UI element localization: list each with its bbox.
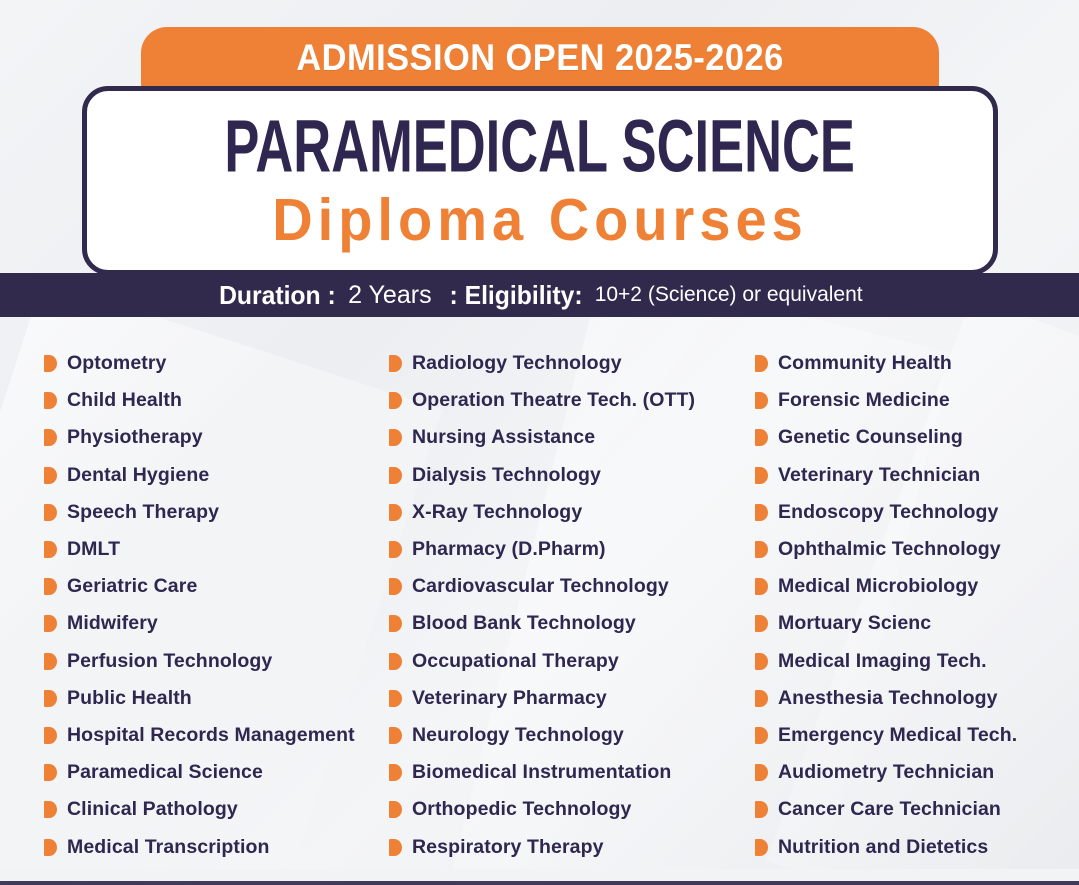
arrow-bullet-icon: [389, 615, 402, 632]
arrow-bullet-icon: [389, 504, 402, 521]
arrow-bullet-icon: [389, 801, 402, 818]
list-item[interactable]: Emergency Medical Tech.: [755, 717, 1079, 754]
course-label: Neurology Technology: [412, 724, 624, 747]
course-label: Nursing Assistance: [412, 426, 595, 449]
list-item[interactable]: Perfusion Technology: [44, 643, 375, 680]
arrow-bullet-icon: [755, 653, 768, 670]
course-label: Speech Therapy: [67, 501, 219, 524]
course-label: Perfusion Technology: [67, 650, 272, 673]
list-item[interactable]: Biomedical Instrumentation: [389, 754, 745, 791]
arrow-bullet-icon: [755, 839, 768, 856]
arrow-bullet-icon: [755, 690, 768, 707]
arrow-bullet-icon: [44, 392, 57, 409]
arrow-bullet-icon: [44, 578, 57, 595]
list-item[interactable]: Geriatric Care: [44, 568, 375, 605]
list-item[interactable]: Hospital Records Management: [44, 717, 375, 754]
list-item[interactable]: Audiometry Technician: [755, 754, 1079, 791]
list-item[interactable]: Public Health: [44, 680, 375, 717]
course-column-1: Optometry Child Health Physiotherapy Den…: [0, 345, 375, 880]
list-item[interactable]: Community Health: [755, 345, 1079, 382]
list-item[interactable]: Anesthesia Technology: [755, 680, 1079, 717]
list-item[interactable]: Physiotherapy: [44, 419, 375, 456]
arrow-bullet-icon: [44, 801, 57, 818]
course-label: Ophthalmic Technology: [778, 538, 1001, 561]
list-item[interactable]: Medical Transcription: [44, 828, 375, 865]
course-label: Physiotherapy: [67, 426, 203, 449]
list-item[interactable]: Paramedical Science: [44, 754, 375, 791]
list-item[interactable]: Dialysis Technology: [389, 457, 745, 494]
list-item[interactable]: Operation Theatre Tech. (OTT): [389, 382, 745, 419]
course-label: Medical Microbiology: [778, 575, 978, 598]
list-item[interactable]: Nutrition and Dietetics: [755, 828, 1079, 865]
course-label: Community Health: [778, 352, 952, 375]
course-label: Paramedical Science: [67, 761, 263, 784]
arrow-bullet-icon: [44, 504, 57, 521]
course-label: Anesthesia Technology: [778, 687, 998, 710]
course-label: Endoscopy Technology: [778, 501, 999, 524]
course-label: Occupational Therapy: [412, 650, 619, 673]
course-label: Forensic Medicine: [778, 389, 950, 412]
duration-label: Duration :: [219, 280, 336, 311]
list-item[interactable]: Child Health: [44, 382, 375, 419]
course-label: Cardiovascular Technology: [412, 575, 669, 598]
course-label: Genetic Counseling: [778, 426, 963, 449]
list-item[interactable]: Veterinary Technician: [755, 457, 1079, 494]
list-item[interactable]: Ophthalmic Technology: [755, 531, 1079, 568]
course-label: Midwifery: [67, 612, 158, 635]
arrow-bullet-icon: [389, 839, 402, 856]
arrow-bullet-icon: [44, 429, 57, 446]
arrow-bullet-icon: [755, 801, 768, 818]
arrow-bullet-icon: [755, 504, 768, 521]
course-label: Medical Transcription: [67, 836, 270, 859]
course-list: Optometry Child Health Physiotherapy Den…: [0, 317, 1079, 880]
list-item[interactable]: Occupational Therapy: [389, 643, 745, 680]
arrow-bullet-icon: [755, 392, 768, 409]
arrow-bullet-icon: [44, 690, 57, 707]
arrow-bullet-icon: [755, 467, 768, 484]
arrow-bullet-icon: [389, 578, 402, 595]
list-item[interactable]: Veterinary Pharmacy: [389, 680, 745, 717]
arrow-bullet-icon: [44, 467, 57, 484]
list-item[interactable]: Orthopedic Technology: [389, 791, 745, 828]
list-item[interactable]: Clinical Pathology: [44, 791, 375, 828]
arrow-bullet-icon: [755, 727, 768, 744]
list-item[interactable]: Neurology Technology: [389, 717, 745, 754]
list-item[interactable]: Midwifery: [44, 605, 375, 642]
list-item[interactable]: Genetic Counseling: [755, 419, 1079, 456]
course-label: Audiometry Technician: [778, 761, 994, 784]
list-item[interactable]: Cardiovascular Technology: [389, 568, 745, 605]
course-column-3: Community Health Forensic Medicine Genet…: [745, 345, 1079, 880]
course-label: Biomedical Instrumentation: [412, 761, 671, 784]
course-label: Medical Imaging Tech.: [778, 650, 987, 673]
list-item[interactable]: Mortuary Scienc: [755, 605, 1079, 642]
arrow-bullet-icon: [44, 653, 57, 670]
arrow-bullet-icon: [44, 764, 57, 781]
arrow-bullet-icon: [755, 578, 768, 595]
arrow-bullet-icon: [755, 764, 768, 781]
course-label: Child Health: [67, 389, 182, 412]
course-label: Geriatric Care: [67, 575, 197, 598]
list-item[interactable]: Pharmacy (D.Pharm): [389, 531, 745, 568]
course-label: Orthopedic Technology: [412, 798, 632, 821]
arrow-bullet-icon: [44, 355, 57, 372]
admission-open-text: ADMISSION OPEN 2025-2026: [296, 37, 783, 79]
course-label: Respiratory Therapy: [412, 836, 604, 859]
list-item[interactable]: Radiology Technology: [389, 345, 745, 382]
course-label: Dialysis Technology: [412, 464, 601, 487]
bottom-divider: [0, 881, 1079, 885]
list-item[interactable]: Endoscopy Technology: [755, 494, 1079, 531]
course-label: Mortuary Scienc: [778, 612, 931, 635]
page-title: PARAMEDICAL SCIENCE: [225, 111, 856, 182]
list-item[interactable]: Respiratory Therapy: [389, 828, 745, 865]
course-label: Dental Hygiene: [67, 464, 209, 487]
list-item[interactable]: Speech Therapy: [44, 494, 375, 531]
list-item[interactable]: DMLT: [44, 531, 375, 568]
course-label: X-Ray Technology: [412, 501, 582, 524]
course-label: Nutrition and Dietetics: [778, 836, 988, 859]
list-item[interactable]: Dental Hygiene: [44, 457, 375, 494]
course-column-2: Radiology Technology Operation Theatre T…: [375, 345, 745, 880]
arrow-bullet-icon: [389, 690, 402, 707]
arrow-bullet-icon: [389, 541, 402, 558]
course-label: Veterinary Pharmacy: [412, 687, 607, 710]
course-label: Pharmacy (D.Pharm): [412, 538, 606, 561]
arrow-bullet-icon: [44, 541, 57, 558]
eligibility-value: 10+2 (Science) or equivalent: [595, 283, 863, 307]
course-label: Cancer Care Technician: [778, 798, 1001, 821]
list-item[interactable]: Medical Imaging Tech.: [755, 643, 1079, 680]
admission-poster: ADMISSION OPEN 2025-2026 PARAMEDICAL SCI…: [0, 0, 1079, 885]
arrow-bullet-icon: [755, 429, 768, 446]
arrow-bullet-icon: [389, 429, 402, 446]
arrow-bullet-icon: [44, 839, 57, 856]
course-label: Operation Theatre Tech. (OTT): [412, 389, 695, 412]
arrow-bullet-icon: [389, 355, 402, 372]
arrow-bullet-icon: [389, 727, 402, 744]
arrow-bullet-icon: [44, 615, 57, 632]
course-label: Veterinary Technician: [778, 464, 980, 487]
course-label: Blood Bank Technology: [412, 612, 636, 635]
arrow-bullet-icon: [755, 355, 768, 372]
duration-eligibility-bar: Duration : 2 Years : Eligibility: 10+2 (…: [0, 273, 1079, 317]
arrow-bullet-icon: [389, 467, 402, 484]
list-item[interactable]: X-Ray Technology: [389, 494, 745, 531]
list-item[interactable]: Forensic Medicine: [755, 382, 1079, 419]
course-label: Public Health: [67, 687, 192, 710]
page-subtitle: Diploma Courses: [272, 190, 808, 249]
course-label: Clinical Pathology: [67, 798, 238, 821]
bottom-strip: [0, 869, 1079, 881]
course-label: Optometry: [67, 352, 167, 375]
arrow-bullet-icon: [389, 653, 402, 670]
title-card: PARAMEDICAL SCIENCE Diploma Courses: [82, 86, 998, 275]
list-item[interactable]: Nursing Assistance: [389, 419, 745, 456]
duration-value: 2 Years: [348, 281, 431, 310]
course-label: DMLT: [67, 538, 120, 561]
admission-open-banner: ADMISSION OPEN 2025-2026: [141, 27, 939, 88]
list-item[interactable]: Cancer Care Technician: [755, 791, 1079, 828]
course-label: Radiology Technology: [412, 352, 622, 375]
list-item[interactable]: Medical Microbiology: [755, 568, 1079, 605]
arrow-bullet-icon: [44, 727, 57, 744]
arrow-bullet-icon: [755, 541, 768, 558]
eligibility-label: : Eligibility:: [449, 280, 582, 311]
arrow-bullet-icon: [389, 764, 402, 781]
arrow-bullet-icon: [389, 392, 402, 409]
list-item[interactable]: Optometry: [44, 345, 375, 382]
course-label: Hospital Records Management: [67, 724, 355, 747]
course-label: Emergency Medical Tech.: [778, 724, 1017, 747]
list-item[interactable]: Blood Bank Technology: [389, 605, 745, 642]
arrow-bullet-icon: [755, 615, 768, 632]
